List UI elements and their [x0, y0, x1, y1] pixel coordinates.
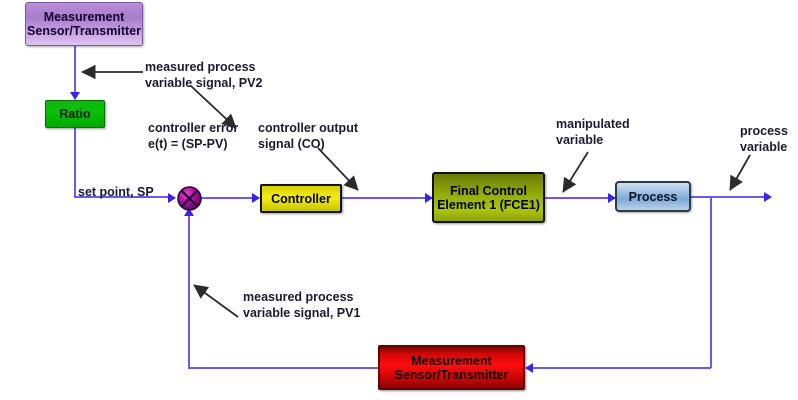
annotation-controller-error: controller error e(t) = (SP-PV)	[148, 121, 238, 152]
annotation-pv1: measured process variable signal, PV1	[243, 290, 360, 321]
annotation-process-variable: process variable	[740, 124, 788, 155]
annotation-controller-output: controller output signal (CO)	[258, 121, 358, 152]
annotation-pv2: measured process variable signal, PV2	[145, 60, 262, 91]
annotation-set-point: set point, SP	[78, 185, 154, 201]
control-loop-diagram: MeasurementSensor/Transmitter Ratio Cont…	[0, 0, 798, 400]
annotation-manipulated-variable: manipulated variable	[556, 117, 630, 148]
